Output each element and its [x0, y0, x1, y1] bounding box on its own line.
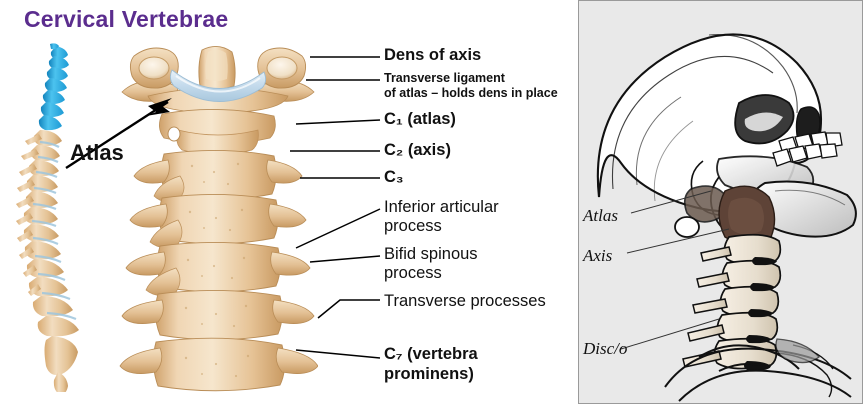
label-dens-of-axis: Dens of axis: [384, 46, 481, 65]
leader-bifid-spinous-process: [310, 256, 380, 262]
leader-c1-atlas: [296, 120, 380, 124]
right-label-disco: Disc/o: [583, 339, 627, 359]
label-c3: C₃: [384, 168, 404, 187]
label-transverse-ligament-line1: Transverse ligament: [384, 71, 505, 85]
right-label-atlas: Atlas: [583, 206, 618, 226]
label-c7-vertebra-line1: C₇ (vertebra: [384, 345, 478, 364]
label-c1-atlas: C₁ (atlas): [384, 110, 456, 129]
label-inferior-articular-line2: process: [384, 217, 442, 236]
label-transverse-processes: Transverse processes: [384, 292, 546, 311]
leader-atlas-right: [631, 191, 711, 213]
skull-lateral-panel: Atlas Axis Disc/o: [578, 0, 863, 404]
label-inferior-articular-line1: Inferior articular: [384, 198, 499, 217]
leader-inferior-articular-process: [296, 209, 380, 248]
label-c7-vertebra-line2: prominens): [384, 365, 474, 384]
leader-c7-vertebra-prominens: [296, 350, 380, 358]
leader-disco-right: [621, 319, 719, 349]
label-c2-axis: C₂ (axis): [384, 141, 451, 160]
right-label-axis: Axis: [583, 246, 612, 266]
leader-transverse-processes: [318, 300, 380, 318]
label-bifid-spinous-line2: process: [384, 264, 442, 283]
figure-root: Cervical Vertebrae: [0, 0, 863, 404]
label-bifid-spinous-line1: Bifid spinous: [384, 245, 478, 264]
leader-axis-right: [627, 229, 729, 253]
label-transverse-ligament-line2: of atlas – holds dens in place: [384, 86, 558, 100]
